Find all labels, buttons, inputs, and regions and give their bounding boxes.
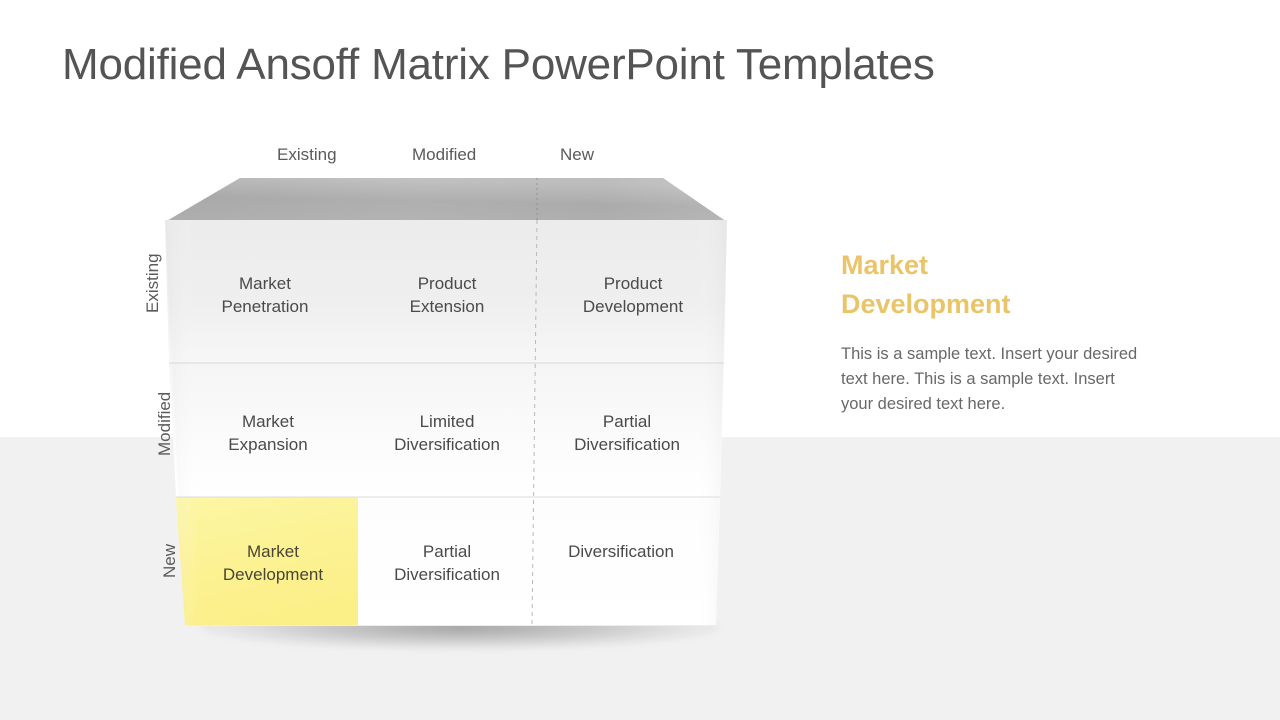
column-header-modified: Modified — [412, 145, 476, 165]
matrix-column-headers: Existing Modified New — [0, 145, 780, 169]
matrix-body: Market Penetration Product Extension Pro… — [160, 220, 740, 626]
side-panel: Market Development This is a sample text… — [841, 246, 1141, 417]
side-panel-body: This is a sample text. Insert your desir… — [841, 342, 1141, 417]
column-header-existing: Existing — [277, 145, 337, 165]
ansoff-matrix-diagram: Existing Modified New Existing Modified … — [0, 0, 780, 700]
column-header-new: New — [560, 145, 594, 165]
side-panel-heading: Market Development — [841, 246, 1141, 324]
